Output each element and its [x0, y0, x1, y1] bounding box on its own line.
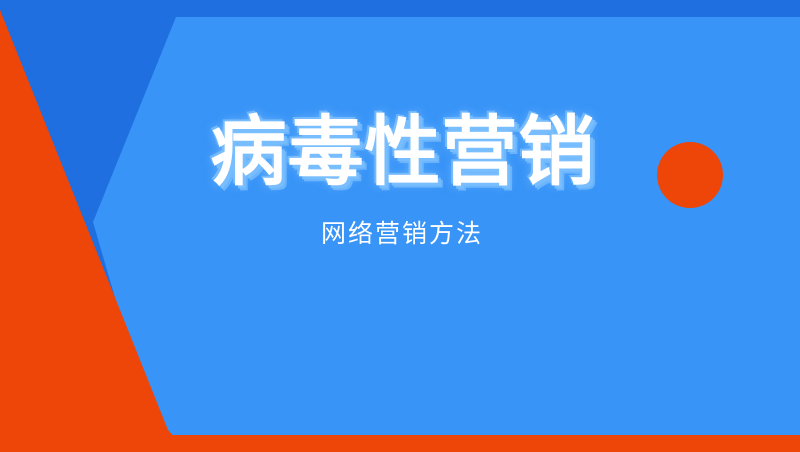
- light-blue-parallelogram: [93, 17, 800, 452]
- background-graphic: [0, 0, 800, 452]
- slide-canvas: 病毒性营销 网络营销方法: [0, 0, 800, 452]
- orange-accent-circle: [657, 142, 723, 208]
- orange-bottom-band: [0, 435, 800, 452]
